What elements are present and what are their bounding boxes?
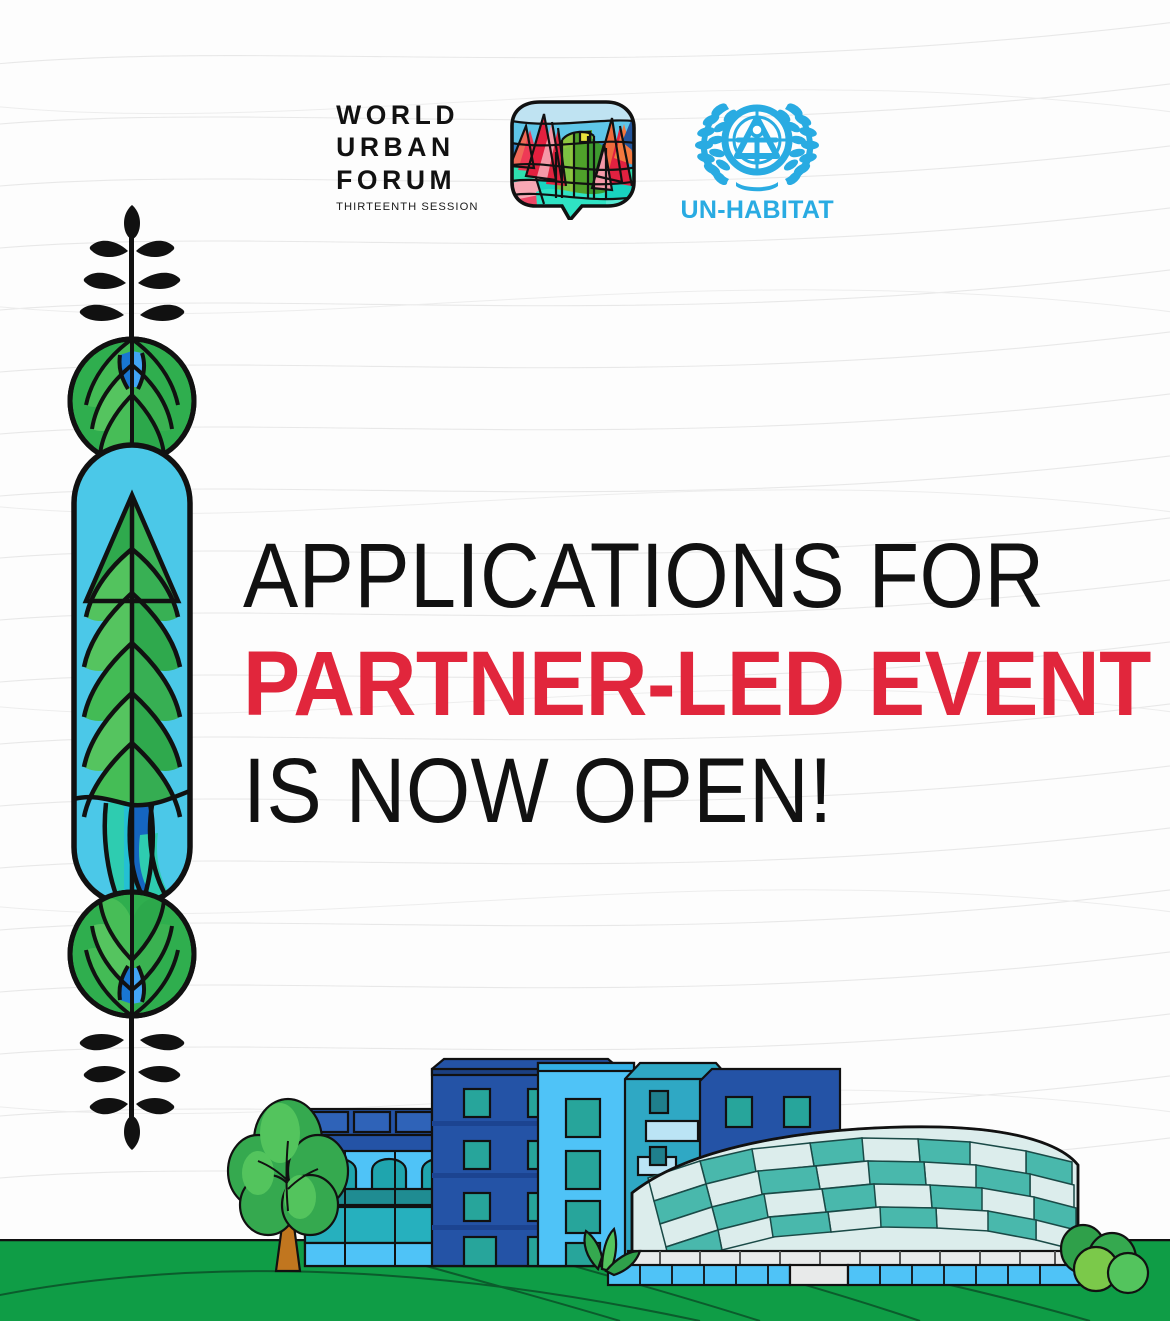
wuf-session-label: THIRTEENTH SESSION [336, 202, 478, 213]
left-decorative-column [62, 205, 222, 1150]
wuf-stained-glass-emblem-icon [496, 96, 642, 220]
capsule-pine-tree-motif [74, 445, 190, 905]
leaf-circle-motif-top [70, 205, 194, 463]
poster-canvas: WORLD URBAN FORUM THIRTEENTH SESSION [0, 0, 1170, 1321]
wuf-wordmark-line-1: WORLD [336, 102, 459, 129]
wuf-wordmark-line-2: URBAN [336, 134, 455, 161]
logo-bar: WORLD URBAN FORUM THIRTEENTH SESSION [0, 90, 1170, 225]
un-habitat-emblem-icon [686, 90, 828, 194]
wuf-wordmark: WORLD URBAN FORUM THIRTEENTH SESSION [336, 102, 478, 214]
headline-block: APPLICATIONS FOR PARTNER-LED EVENT IS NO… [243, 525, 1073, 843]
leaf-circle-motif-bottom [70, 892, 194, 1150]
headline-line-1: APPLICATIONS FOR [243, 525, 990, 628]
headline-line-2-accent: PARTNER-LED EVENT [243, 628, 1015, 740]
un-habitat-logo: UN-HABITAT [680, 90, 833, 225]
un-habitat-name: UN-HABITAT [680, 196, 833, 225]
wuf-wordmark-line-3: FORUM [336, 167, 456, 194]
headline-line-3: IS NOW OPEN! [243, 740, 990, 843]
world-urban-forum-logo: WORLD URBAN FORUM THIRTEENTH SESSION [336, 96, 642, 220]
